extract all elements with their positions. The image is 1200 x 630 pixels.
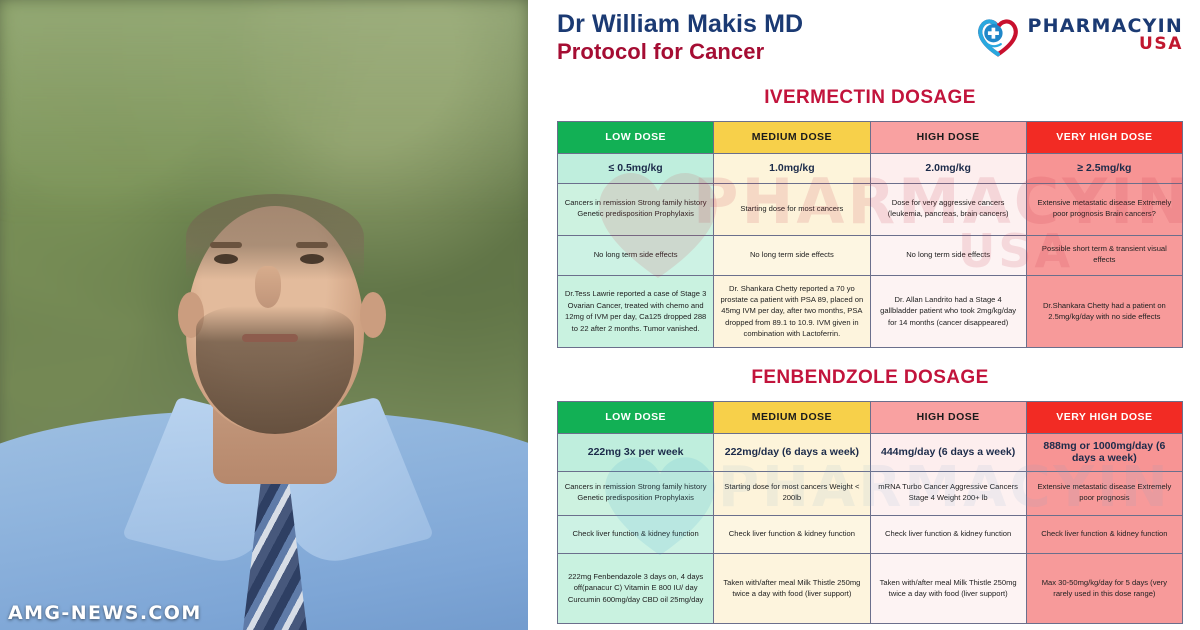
cell-dose-low: 222mg 3x per week — [558, 433, 714, 471]
fenbendazole-dosage-table: LOW DOSE MEDIUM DOSE HIGH DOSE VERY HIGH… — [557, 401, 1183, 624]
cell-monitoring-low: Check liver function & kidney function — [558, 515, 714, 553]
cell-case-medium: Dr. Shankara Chetty reported a 70 yo pro… — [714, 275, 870, 347]
content-panel: PHARMACYIN USA PHARMACYIN Dr William Mak… — [528, 0, 1200, 630]
cell-side-effects-very-high: Possible short term & transient visual e… — [1026, 235, 1182, 275]
eyebrow-right — [296, 242, 328, 248]
column-header-high: HIGH DOSE — [870, 121, 1026, 153]
table-row-indication: Cancers in remission Strong family histo… — [558, 471, 1183, 515]
ivermectin-dosage-table: LOW DOSE MEDIUM DOSE HIGH DOSE VERY HIGH… — [557, 121, 1183, 348]
cell-case-low: Dr.Tess Lawrie reported a case of Stage … — [558, 275, 714, 347]
cell-dose-very-high: 888mg or 1000mg/day (6 days a week) — [1026, 433, 1182, 471]
section-title-fenbendazole: FENBENDZOLE DOSAGE — [557, 367, 1183, 389]
cell-side-effects-medium: No long term side effects — [714, 235, 870, 275]
cell-monitoring-high: Check liver function & kidney function — [870, 515, 1026, 553]
infographic-page: AMG-NEWS.COM PHARMACYIN USA PHARMACYIN D… — [0, 0, 1200, 630]
nose — [255, 266, 281, 308]
eyebrow-left — [210, 242, 242, 248]
table-header-row: LOW DOSE MEDIUM DOSE HIGH DOSE VERY HIGH… — [558, 121, 1183, 153]
cell-indication-medium: Starting dose for most cancers Weight < … — [714, 471, 870, 515]
table-row-protocol: 222mg Fenbendazole 3 days on, 4 days off… — [558, 553, 1183, 623]
cell-dose-medium: 222mg/day (6 days a week) — [714, 433, 870, 471]
column-header-very-high: VERY HIGH DOSE — [1026, 121, 1182, 153]
column-header-medium: MEDIUM DOSE — [714, 121, 870, 153]
portrait-photo: AMG-NEWS.COM — [0, 0, 528, 630]
brand-name: PHARMACYIN USA — [1028, 17, 1183, 54]
table-row-side-effects: No long term side effects No long term s… — [558, 235, 1183, 275]
section-title-ivermectin: IVERMECTIN DOSAGE — [557, 87, 1183, 109]
cell-dose-high: 2.0mg/kg — [870, 153, 1026, 183]
column-header-high: HIGH DOSE — [870, 401, 1026, 433]
column-header-very-high: VERY HIGH DOSE — [1026, 401, 1182, 433]
cell-indication-medium: Starting dose for most cancers — [714, 183, 870, 235]
brand-name-bottom: USA — [1028, 36, 1183, 53]
eye-right — [300, 254, 324, 264]
photo-sky — [0, 0, 528, 214]
page-title: Dr William Makis MD Protocol for Cancer — [557, 10, 803, 65]
cell-dose-low: ≤ 0.5mg/kg — [558, 153, 714, 183]
column-header-medium: MEDIUM DOSE — [714, 401, 870, 433]
cell-protocol-high: Taken with/after meal Milk Thistle 250mg… — [870, 553, 1026, 623]
cell-indication-very-high: Extensive metastatic disease Extremely p… — [1026, 183, 1182, 235]
cell-case-very-high: Dr.Shankara Chetty had a patient on 2.5m… — [1026, 275, 1182, 347]
ear-right — [360, 292, 386, 338]
brand-logo: PHARMACYIN USA — [975, 10, 1183, 57]
table-row-indication: Cancers in remission Strong family histo… — [558, 183, 1183, 235]
cell-indication-low: Cancers in remission Strong family histo… — [558, 183, 714, 235]
site-watermark: AMG-NEWS.COM — [8, 602, 202, 624]
cell-side-effects-low: No long term side effects — [558, 235, 714, 275]
table-row-monitoring: Check liver function & kidney function C… — [558, 515, 1183, 553]
cell-indication-very-high: Extensive metastatic disease Extremely p… — [1026, 471, 1182, 515]
title-line-2: Protocol for Cancer — [557, 40, 803, 65]
cell-indication-low: Cancers in remission Strong family histo… — [558, 471, 714, 515]
table-row-case-reports: Dr.Tess Lawrie reported a case of Stage … — [558, 275, 1183, 347]
cell-protocol-medium: Taken with/after meal Milk Thistle 250mg… — [714, 553, 870, 623]
heart-cross-icon — [975, 13, 1021, 57]
table-row-dose: ≤ 0.5mg/kg 1.0mg/kg 2.0mg/kg ≥ 2.5mg/kg — [558, 153, 1183, 183]
cell-monitoring-medium: Check liver function & kidney function — [714, 515, 870, 553]
cell-dose-very-high: ≥ 2.5mg/kg — [1026, 153, 1182, 183]
cell-protocol-very-high: Max 30-50mg/kg/day for 5 days (very rare… — [1026, 553, 1182, 623]
cell-dose-high: 444mg/day (6 days a week) — [870, 433, 1026, 471]
cell-indication-high: Dose for very aggressive cancers (leukem… — [870, 183, 1026, 235]
cell-case-high: Dr. Allan Landrito had a Stage 4 gallbla… — [870, 275, 1026, 347]
cell-protocol-low: 222mg Fenbendazole 3 days on, 4 days off… — [558, 553, 714, 623]
table-header-row: LOW DOSE MEDIUM DOSE HIGH DOSE VERY HIGH… — [558, 401, 1183, 433]
cell-monitoring-very-high: Check liver function & kidney function — [1026, 515, 1182, 553]
mouth — [242, 334, 298, 342]
column-header-low: LOW DOSE — [558, 121, 714, 153]
table-row-dose: 222mg 3x per week 222mg/day (6 days a we… — [558, 433, 1183, 471]
panel-header: Dr William Makis MD Protocol for Cancer … — [557, 10, 1183, 65]
column-header-low: LOW DOSE — [558, 401, 714, 433]
cell-indication-high: mRNA Turbo Cancer Aggressive Cancers Sta… — [870, 471, 1026, 515]
cell-dose-medium: 1.0mg/kg — [714, 153, 870, 183]
title-line-1: Dr William Makis MD — [557, 10, 803, 38]
eye-left — [214, 254, 238, 264]
cell-side-effects-high: No long term side effects — [870, 235, 1026, 275]
